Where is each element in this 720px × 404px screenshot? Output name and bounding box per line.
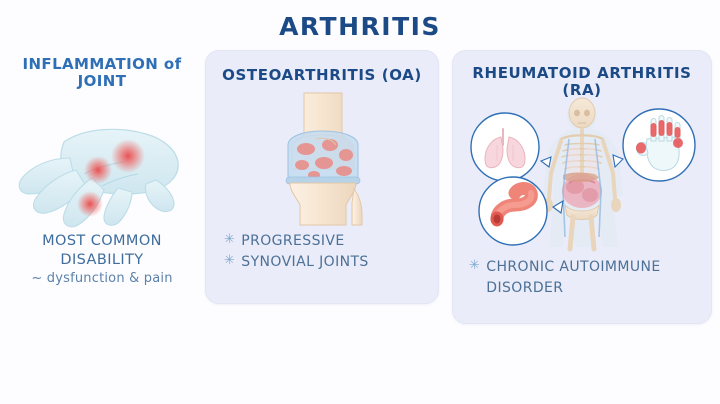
oa-heading: OSTEOARTHRITIS (OA)	[206, 67, 438, 84]
list-item: ✳ SYNOVIAL JOINTS	[224, 252, 428, 273]
left-column-caption: MOST COMMON DISABILITY ~ dysfunction & p…	[4, 232, 200, 288]
asterisk-icon: ✳	[224, 231, 235, 250]
ra-heading-line1: RHEUMATOID ARTHRITIS	[472, 64, 691, 82]
oa-bullet-1: PROGRESSIVE	[241, 231, 428, 252]
page-title: ARTHRITIS	[0, 12, 720, 41]
list-item: ✳ PROGRESSIVE	[224, 231, 428, 252]
panel-osteoarthritis[interactable]: OSTEOARTHRITIS (OA)	[205, 50, 439, 304]
left-column-heading: INFLAMMATION of JOINT	[4, 56, 200, 90]
caption-line1: MOST COMMON	[42, 233, 162, 249]
ra-bullet-1: CHRONIC AUTOIMMUNE DISORDER	[486, 257, 705, 299]
left-heading-line1: INFLAMMATION of	[22, 55, 181, 73]
human-figure	[543, 98, 623, 249]
oa-bullet-2: SYNOVIAL JOINTS	[241, 252, 428, 273]
asterisk-icon: ✳	[469, 257, 480, 276]
caption-subtext: ~ dysfunction & pain	[4, 271, 200, 288]
inflammation-spot	[111, 139, 145, 173]
inflammation-spot	[84, 156, 112, 184]
inflammation-spot	[77, 191, 103, 217]
callout-lungs	[471, 113, 551, 181]
body-systemic-illustration	[457, 87, 707, 253]
ra-bullet-list: ✳ CHRONIC AUTOIMMUNE DISORDER	[469, 257, 705, 299]
asterisk-icon: ✳	[224, 252, 235, 271]
knee-joint-illustration	[258, 93, 386, 225]
oa-bullet-list: ✳ PROGRESSIVE ✳ SYNOVIAL JOINTS	[224, 231, 428, 273]
panel-rheumatoid-arthritis[interactable]: RHEUMATOID ARTHRITIS (RA)	[452, 50, 712, 324]
infographic-canvas: ARTHRITIS INFLAMMATION of JOINT	[0, 0, 720, 404]
left-heading-line2: JOINT	[78, 72, 127, 90]
left-column: INFLAMMATION of JOINT	[4, 56, 200, 306]
list-item: ✳ CHRONIC AUTOIMMUNE DISORDER	[469, 257, 705, 299]
hand-inflammation-illustration	[6, 104, 198, 230]
caption-line2: DISABILITY	[60, 252, 143, 268]
callout-hand	[613, 109, 695, 181]
